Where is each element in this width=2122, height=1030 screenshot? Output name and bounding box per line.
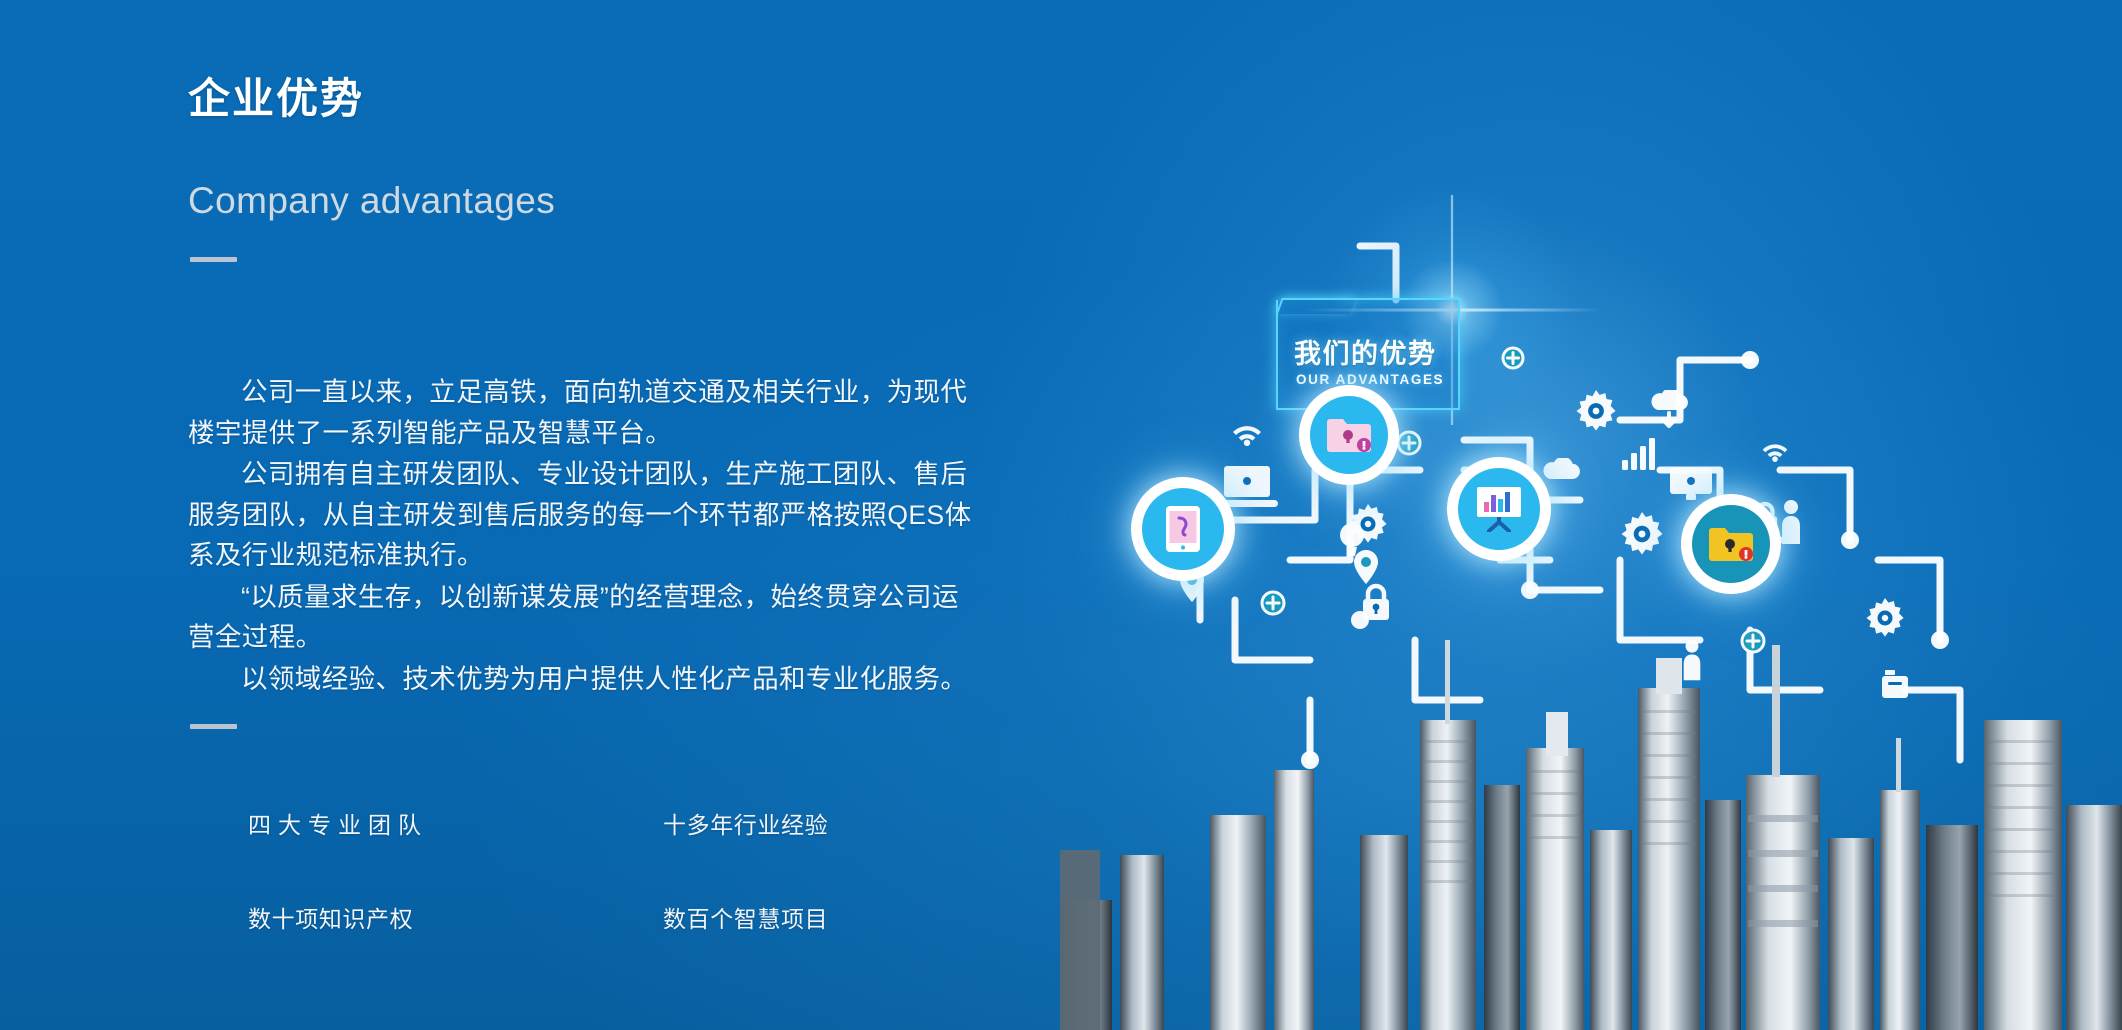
paragraph: 以领域经验、技术优势为用户提供人性化产品和专业化服务。 bbox=[188, 659, 978, 700]
cloud-icon bbox=[1540, 458, 1580, 480]
laptop-icon bbox=[1214, 462, 1280, 510]
wifi-icon bbox=[1760, 442, 1790, 466]
cloud-upload-icon bbox=[1648, 390, 1690, 430]
bubble-smartphone bbox=[1142, 488, 1224, 570]
text-column: 企业优势 Company advantages 公司一直以来，立足高铁，面向轨道… bbox=[188, 0, 1018, 1030]
gear-icon bbox=[1620, 512, 1664, 556]
paragraph: “以质量求生存，以创新谋发展”的经营理念，始终贯穿公司运营全过程。 bbox=[188, 577, 978, 658]
map-pin-icon bbox=[1180, 568, 1204, 602]
smart-city-illustration: 我们的优势 OUR ADVANTAGES bbox=[1060, 0, 2122, 1030]
divider-middle bbox=[190, 724, 237, 729]
page-title-en: Company advantages bbox=[188, 182, 555, 219]
gear-icon bbox=[1348, 504, 1388, 544]
plus-node-icon bbox=[1501, 346, 1525, 370]
signal-bars-icon bbox=[1622, 438, 1656, 470]
gear-icon bbox=[1865, 598, 1905, 638]
paragraph: 公司拥有自主研发团队、专业设计团队，生产施工团队、售后服务团队，从自主研发到售后… bbox=[188, 454, 978, 576]
monitor-icon bbox=[1882, 670, 1912, 706]
person-icon bbox=[1778, 500, 1804, 544]
plus-node-icon bbox=[1396, 430, 1422, 456]
our-advantages-card: 我们的优势 OUR ADVANTAGES bbox=[1276, 300, 1460, 410]
city-skyline bbox=[1060, 600, 2122, 1030]
map-pin-icon bbox=[1354, 550, 1378, 584]
divider-top bbox=[190, 257, 237, 262]
page-title-cn: 企业优势 bbox=[188, 78, 364, 120]
folder-lock-yellow-icon bbox=[1708, 525, 1754, 563]
stat-item: 数十项知识产权 bbox=[248, 900, 663, 934]
stats-grid: 四大专业团队 十多年行业经验 数十项知识产权 数百个智慧项目 bbox=[248, 806, 908, 934]
slide-canvas: 企业优势 Company advantages 公司一直以来，立足高铁，面向轨道… bbox=[0, 0, 2122, 1030]
plus-node-icon bbox=[1740, 628, 1766, 654]
person-icon bbox=[1680, 638, 1704, 682]
stat-item: 十多年行业经验 bbox=[663, 806, 908, 840]
wifi-icon bbox=[1230, 424, 1264, 450]
bubble-folder-lock bbox=[1310, 396, 1388, 474]
card-title-en: OUR ADVANTAGES bbox=[1296, 372, 1444, 387]
presentation-chart-icon bbox=[1475, 486, 1523, 532]
monitor-icon bbox=[1670, 468, 1712, 500]
bubble-presentation-chart bbox=[1458, 468, 1540, 550]
folder-lock-icon bbox=[1326, 416, 1372, 454]
smartphone-icon bbox=[1166, 506, 1200, 552]
city-skyline-left bbox=[1060, 700, 1100, 1030]
stat-item: 数百个智慧项目 bbox=[663, 900, 908, 934]
body-paragraphs: 公司一直以来，立足高铁，面向轨道交通及相关行业，为现代楼宇提供了一系列智能产品及… bbox=[188, 372, 978, 700]
plus-node-icon bbox=[1260, 590, 1286, 616]
paragraph: 公司一直以来，立足高铁，面向轨道交通及相关行业，为现代楼宇提供了一系列智能产品及… bbox=[188, 372, 978, 453]
card-title-cn: 我们的优势 bbox=[1294, 332, 1437, 371]
stat-item: 四大专业团队 bbox=[248, 806, 663, 840]
lock-icon bbox=[1360, 582, 1392, 622]
gear-icon bbox=[1573, 390, 1619, 432]
bubble-folder-lock-yellow bbox=[1692, 505, 1770, 583]
